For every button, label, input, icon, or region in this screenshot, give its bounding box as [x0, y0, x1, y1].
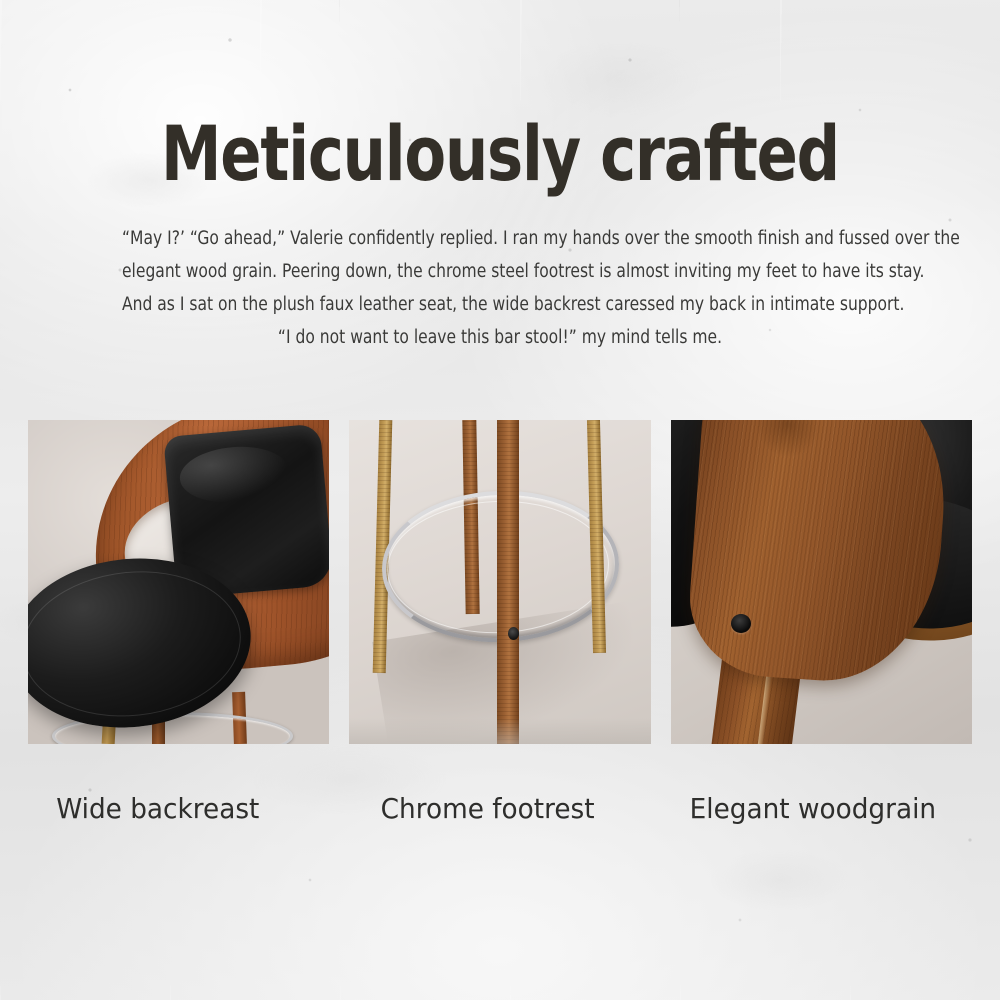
caption-elegant-woodgrain: Elegant woodgrain [684, 788, 955, 830]
feature-image-elegant-woodgrain [671, 420, 972, 744]
floor-gradient [349, 718, 650, 744]
product-feature-banner: Meticulously crafted “May I?’ “Go ahead,… [0, 0, 1000, 1000]
body-copy-line: elegant wood grain. Peering down, the ch… [122, 255, 878, 288]
page-title: Meticulously crafted [100, 112, 900, 196]
feature-image-wide-backrest [28, 420, 329, 744]
body-copy-line: And as I sat on the plush faux leather s… [122, 288, 878, 321]
body-copy-line: “May I?’ “Go ahead,” Valerie confidently… [122, 222, 878, 255]
caption-wide-backrest: Wide backreast [28, 788, 321, 830]
body-copy-line: “I do not want to leave this bar stool!”… [122, 321, 878, 354]
fixing-screw-hole [508, 627, 519, 640]
caption-chrome-footrest: Chrome footrest [360, 788, 646, 830]
feature-image-chrome-footrest [349, 420, 650, 744]
body-copy: “May I?’ “Go ahead,” Valerie confidently… [122, 222, 878, 354]
woodgrain-texture [497, 420, 519, 744]
leather-sheen [177, 442, 291, 506]
feature-image-strip [28, 420, 972, 744]
feature-caption-row: Wide backreast Chrome footrest Elegant w… [28, 788, 972, 830]
wooden-leg-front [497, 420, 519, 744]
